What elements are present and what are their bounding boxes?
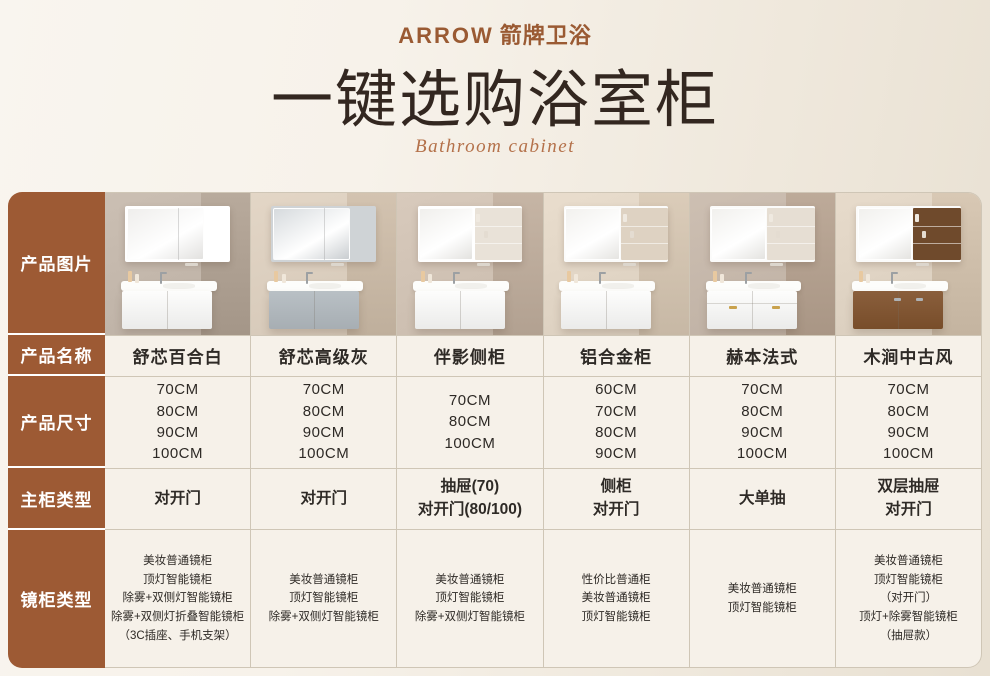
main-cabinet-type: 对开门(80/100) [418,499,522,521]
product-size-option: 80CM [595,422,637,443]
mirror-cabinet-type: 性价比普通柜 [582,571,651,590]
mirror-cabinet-type: 顶灯智能镜柜 [582,608,651,627]
mirror-cabinet-type: 美妆普通镜柜 [582,589,651,608]
product-size-option: 100CM [298,443,349,464]
page-header: ARROW箭牌卫浴 一键选购浴室柜 Bathroom cabinet [0,0,990,192]
product-photo [690,193,835,335]
mirror-cabinet-type: 美妆普通镜柜 [143,552,212,571]
row-label-product-size: 产品尺寸 [8,376,105,468]
mirror-cabinet-type: 美妆普通镜柜 [874,552,943,571]
row-label-column: 产品图片 产品名称 产品尺寸 主柜类型 镜柜类型 [8,192,105,668]
product-size-option: 90CM [741,422,783,443]
mirror-cabinet-type: 美妆普通镜柜 [728,580,797,599]
product-size-option: 90CM [157,422,199,443]
mirror-cabinet-cell: 美妆普通镜柜顶灯智能镜柜 [690,530,836,667]
brand-logo: ARROW箭牌卫浴 [0,25,990,47]
main-cabinet-type: 侧柜 [601,476,632,498]
product-size-cell: 70CM80CM90CM100CM [690,377,836,468]
brand-name-en: ARROW [398,23,494,48]
mirror-cabinet-type: 顶灯智能镜柜 [435,589,504,608]
mirror-cabinet-type: 顶灯智能镜柜 [289,589,358,608]
product-size-option: 100CM [152,443,203,464]
table-row-images [105,193,981,336]
product-size-option: 80CM [449,411,491,432]
product-size-cell: 60CM70CM80CM90CM [544,377,690,468]
main-cabinet-type: 对开门 [885,499,932,521]
product-size-option: 70CM [157,379,199,400]
product-size-option: 100CM [445,433,496,454]
product-size-option: 100CM [883,443,934,464]
product-size-cell: 70CM80CM90CM100CM [105,377,251,468]
product-size-option: 70CM [303,379,345,400]
mirror-cabinet-type: 美妆普通镜柜 [289,571,358,590]
main-cabinet-cell: 双层抽屉对开门 [836,469,981,530]
product-name-cell: 舒芯高级灰 [251,336,397,376]
main-cabinet-type: 对开门 [154,488,201,510]
product-photo [105,193,250,335]
mirror-cabinet-cell: 美妆普通镜柜顶灯智能镜柜除雾+双侧灯智能镜柜 [397,530,543,667]
mirror-cabinet-cell: 性价比普通柜美妆普通镜柜顶灯智能镜柜 [544,530,690,667]
mirror-cabinet-type: 顶灯智能镜柜 [874,571,943,590]
product-image-cell[interactable] [836,193,981,335]
page-title: 一键选购浴室柜 [0,69,990,134]
product-name-cell: 伴影侧柜 [397,336,543,376]
mirror-cabinet-type: （对开门） [880,589,938,608]
product-size-cell: 70CM80CM100CM [397,377,543,468]
mirror-cabinet-cell: 美妆普通镜柜顶灯智能镜柜除雾+双侧灯智能镜柜 [251,530,397,667]
product-name: 舒芯高级灰 [279,343,369,368]
product-name: 舒芯百合白 [133,343,223,368]
product-size-option: 80CM [887,401,929,422]
product-size-option: 80CM [157,401,199,422]
product-size-option: 90CM [303,422,345,443]
row-label-mirror-cabinet: 镜柜类型 [8,530,105,667]
product-size-option: 70CM [741,379,783,400]
main-cabinet-type: 对开门 [301,488,348,510]
product-name: 铝合金柜 [580,343,652,368]
product-size-option: 90CM [887,422,929,443]
mirror-cabinet-type: 除雾+双侧灯折叠智能镜柜 [111,608,244,627]
product-name: 木涧中古风 [863,343,953,368]
product-photo [397,193,542,335]
mirror-cabinet-type: （抽屉款） [880,627,938,646]
comparison-table: 产品图片 产品名称 产品尺寸 主柜类型 镜柜类型 舒芯百合白舒芯高级灰伴影侧柜铝… [8,192,982,668]
product-image-cell[interactable] [397,193,543,335]
main-cabinet-cell: 大单抽 [690,469,836,530]
product-size-cell: 70CM80CM90CM100CM [251,377,397,468]
product-size-option: 70CM [595,401,637,422]
product-size-option: 90CM [595,443,637,464]
mirror-cabinet-cell: 美妆普通镜柜顶灯智能镜柜除雾+双侧灯智能镜柜除雾+双侧灯折叠智能镜柜（3C插座、… [105,530,251,667]
main-cabinet-cell: 对开门 [251,469,397,530]
product-name: 赫本法式 [726,343,798,368]
main-cabinet-cell: 抽屉(70)对开门(80/100) [397,469,543,530]
product-photo [251,193,396,335]
row-label-product-image: 产品图片 [8,192,105,335]
product-size-option: 100CM [737,443,788,464]
product-image-cell[interactable] [105,193,251,335]
product-size-option: 60CM [595,379,637,400]
table-row-names: 舒芯百合白舒芯高级灰伴影侧柜铝合金柜赫本法式木涧中古风 [105,336,981,377]
table-row-main-cabinet: 对开门对开门抽屉(70)对开门(80/100)侧柜对开门大单抽双层抽屉对开门 [105,469,981,531]
mirror-cabinet-type: （3C插座、手机支架） [118,627,236,646]
product-image-cell[interactable] [544,193,690,335]
product-size-option: 70CM [887,379,929,400]
product-comparison-page: ARROW箭牌卫浴 一键选购浴室柜 Bathroom cabinet 产品图片 … [0,0,990,676]
product-image-cell[interactable] [251,193,397,335]
mirror-cabinet-type: 顶灯+除雾智能镜柜 [859,608,958,627]
product-photo [544,193,689,335]
product-size-option: 80CM [303,401,345,422]
main-cabinet-type: 双层抽屉 [877,476,939,498]
mirror-cabinet-type: 除雾+双侧灯智能镜柜 [269,608,379,627]
product-size-option: 80CM [741,401,783,422]
main-cabinet-type: 抽屉(70) [441,476,500,498]
brand-name-cn: 箭牌卫浴 [500,23,592,48]
main-cabinet-cell: 对开门 [105,469,251,530]
mirror-cabinet-type: 除雾+双侧灯智能镜柜 [415,608,525,627]
row-label-main-cabinet: 主柜类型 [8,468,105,530]
mirror-cabinet-type: 除雾+双侧灯智能镜柜 [122,589,232,608]
main-cabinet-type: 大单抽 [739,488,786,510]
product-name-cell: 木涧中古风 [836,336,981,376]
table-row-sizes: 70CM80CM90CM100CM70CM80CM90CM100CM70CM80… [105,377,981,469]
table-row-mirror-cabinet: 美妆普通镜柜顶灯智能镜柜除雾+双侧灯智能镜柜除雾+双侧灯折叠智能镜柜（3C插座、… [105,530,981,667]
mirror-cabinet-type: 美妆普通镜柜 [435,571,504,590]
product-size-option: 70CM [449,390,491,411]
page-subtitle: Bathroom cabinet [0,136,990,158]
main-cabinet-type: 对开门 [593,499,640,521]
mirror-cabinet-type: 顶灯智能镜柜 [728,599,797,618]
main-cabinet-cell: 侧柜对开门 [544,469,690,530]
product-photo [836,193,981,335]
product-name-cell: 舒芯百合白 [105,336,251,376]
product-name-cell: 铝合金柜 [544,336,690,376]
row-label-product-name: 产品名称 [8,335,105,376]
mirror-cabinet-type: 顶灯智能镜柜 [143,571,212,590]
product-name: 伴影侧柜 [434,343,506,368]
mirror-cabinet-cell: 美妆普通镜柜顶灯智能镜柜（对开门）顶灯+除雾智能镜柜（抽屉款） [836,530,981,667]
product-size-cell: 70CM80CM90CM100CM [836,377,981,468]
product-image-cell[interactable] [690,193,836,335]
product-name-cell: 赫本法式 [690,336,836,376]
table-grid: 舒芯百合白舒芯高级灰伴影侧柜铝合金柜赫本法式木涧中古风 70CM80CM90CM… [105,192,982,668]
